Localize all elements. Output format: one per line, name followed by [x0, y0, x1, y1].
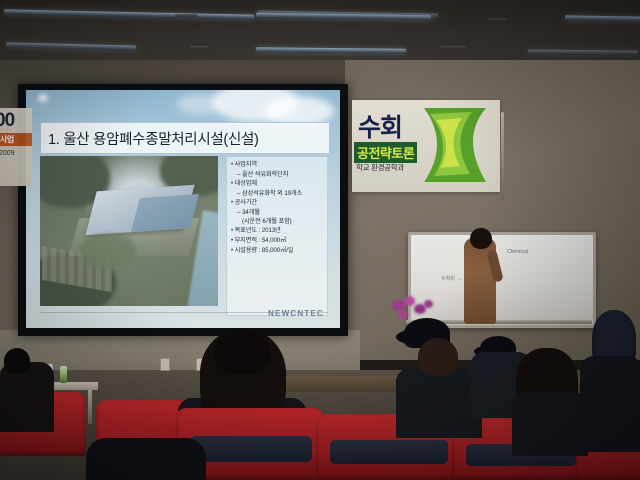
ceiling-light-fixture — [256, 13, 431, 20]
drink-bottle — [60, 366, 67, 383]
slide-bullet: 사업지역 — [231, 160, 325, 170]
slide-bullet: 시설용량 : 85,000㎡/일 — [231, 246, 325, 256]
ceiling-vent — [175, 14, 197, 17]
seat-back-panel — [190, 436, 312, 462]
ceiling-light-fixture — [256, 47, 406, 54]
whiteboard-note: Chemical — [507, 249, 528, 255]
audience-head — [214, 330, 270, 374]
projection-screen: 1. 울산 용암폐수종말처리시설(신설) 사업지역 울산 석유화학단지 대상업체… — [26, 90, 340, 328]
banner-right: 수회 공전략토론 학교 환경공학과 — [352, 100, 500, 192]
ceiling-light-fixture — [528, 50, 638, 56]
seat-back-panel — [330, 440, 448, 464]
ceiling-vent — [488, 18, 506, 21]
slide-aerial-photo — [40, 156, 218, 306]
table-leg — [88, 390, 92, 424]
slide-bullet: 삼성석유화학 외 19개소 — [231, 189, 325, 198]
ceiling-light-fixture — [6, 42, 136, 50]
audience-head — [4, 348, 30, 374]
slide-cloud — [176, 94, 224, 114]
hanging-pointer-rod — [501, 112, 504, 200]
slide-bullet: 34개월 — [231, 208, 325, 217]
slide-bullet: (시운전 6개월 포함) — [231, 217, 325, 226]
flower-bloom — [398, 310, 408, 319]
audience-head — [418, 338, 458, 376]
whiteboard: Chemical 수처리 → — [408, 232, 596, 328]
slide-bullet-list: 사업지역 울산 석유화학단지 대상업체 삼성석유화학 외 19개소 공사기간 3… — [226, 156, 328, 316]
slide-title-bar: 1. 울산 용암폐수종말처리시설(신설) — [40, 122, 330, 154]
whiteboard-note: 수처리 → — [441, 275, 461, 282]
presenter-head — [470, 228, 492, 249]
audience-attendee — [580, 356, 640, 452]
slide-bullet: 대상업체 — [231, 179, 325, 189]
ceiling-vent — [440, 46, 466, 49]
slide-bullet: 목표년도 : 2013년 — [231, 226, 325, 236]
ceiling-light-fixture — [4, 9, 254, 19]
photo-facility-roof — [131, 194, 199, 232]
banner-right-headline: 수회 — [358, 108, 402, 144]
lecture-hall-photo: 1. 울산 용암폐수종말처리시설(신설) 사업지역 울산 석유화학단지 대상업체… — [0, 0, 640, 480]
banner-left-number: 00 — [0, 110, 32, 132]
green-swoosh-icon — [420, 104, 500, 190]
audience-attendee — [512, 392, 588, 456]
ceiling-light-fixture — [565, 15, 640, 21]
slide-title: 1. 울산 용암폐수종말처리시설(신설) — [41, 128, 259, 149]
wall-outlet — [160, 358, 170, 371]
slide-bullet: 공사기간 — [231, 198, 325, 208]
slide-bullet: 부지면적 : 54,000㎡ — [231, 236, 325, 246]
banner-left-highlight: 사업 — [0, 133, 32, 146]
flower-bloom — [404, 296, 415, 306]
audience-attendee — [86, 438, 206, 480]
banner-right-band: 공전략토론 — [354, 142, 417, 163]
banner-right-subline: 학교 환경공학과 — [356, 162, 404, 173]
banner-left-year: 2009 — [0, 150, 32, 157]
ceiling-vent — [190, 46, 208, 49]
audience-attendee — [0, 362, 54, 432]
banner-left: 00 사업 2009 — [0, 108, 32, 186]
photo-foliage — [80, 234, 136, 268]
slide-watermark-logo: NEWCNTEC — [268, 309, 324, 318]
ceiling — [0, 0, 640, 68]
slide-bullet: 울산 석유화학단지 — [231, 170, 325, 179]
projector-hotspot — [38, 94, 48, 102]
flower-bloom — [424, 300, 433, 308]
